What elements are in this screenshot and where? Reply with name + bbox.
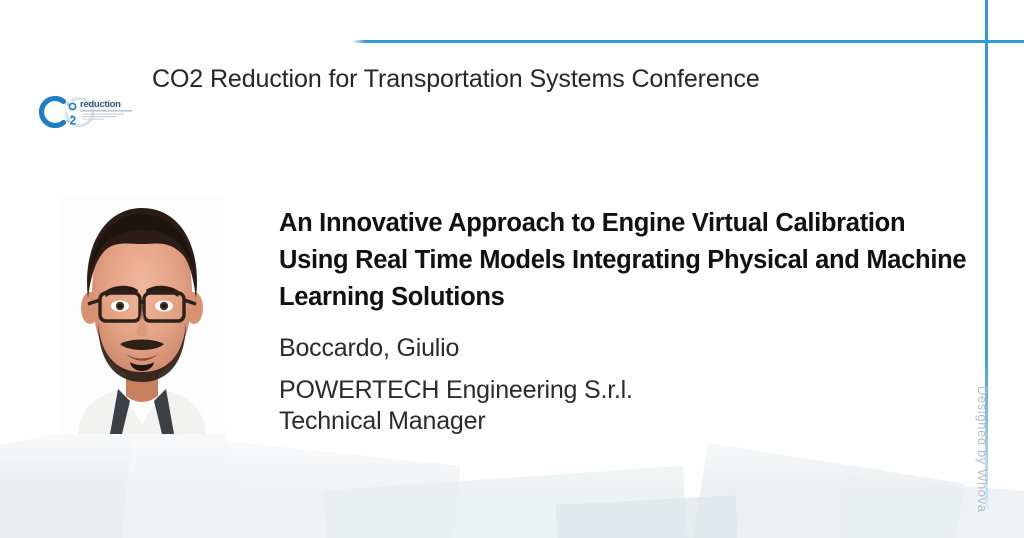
svg-text:reduction: reduction bbox=[80, 99, 121, 110]
horizontal-accent-rule bbox=[352, 40, 1024, 43]
decorative-polygon bbox=[556, 495, 745, 538]
co2-reduction-logo: 2 reduction bbox=[36, 93, 140, 131]
speaker-name: Boccardo, Giulio bbox=[279, 332, 919, 364]
decorative-polygon bbox=[833, 476, 1024, 538]
decorative-polygon bbox=[323, 466, 696, 538]
designed-by-credit: Designed by Whova bbox=[975, 386, 990, 536]
speaker-photo bbox=[60, 196, 224, 434]
talk-title: An Innovative Approach to Engine Virtual… bbox=[279, 205, 979, 316]
speaker-info: Boccardo, Giulio POWERTECH Engineering S… bbox=[279, 332, 919, 437]
speaker-role: Technical Manager bbox=[279, 406, 919, 437]
logo-wordmark: reduction bbox=[80, 99, 132, 120]
logo-o2-mark: 2 bbox=[69, 103, 76, 127]
svg-text:2: 2 bbox=[70, 114, 77, 128]
conference-title: CO2 Reduction for Transportation Systems… bbox=[152, 60, 772, 98]
decorative-polygon bbox=[675, 443, 965, 538]
presentation-slide: 2 reduction CO2 Reduction for Transporta… bbox=[0, 0, 1024, 538]
speaker-organization: POWERTECH Engineering S.r.l. bbox=[279, 375, 919, 406]
decorative-polygon bbox=[109, 431, 460, 538]
